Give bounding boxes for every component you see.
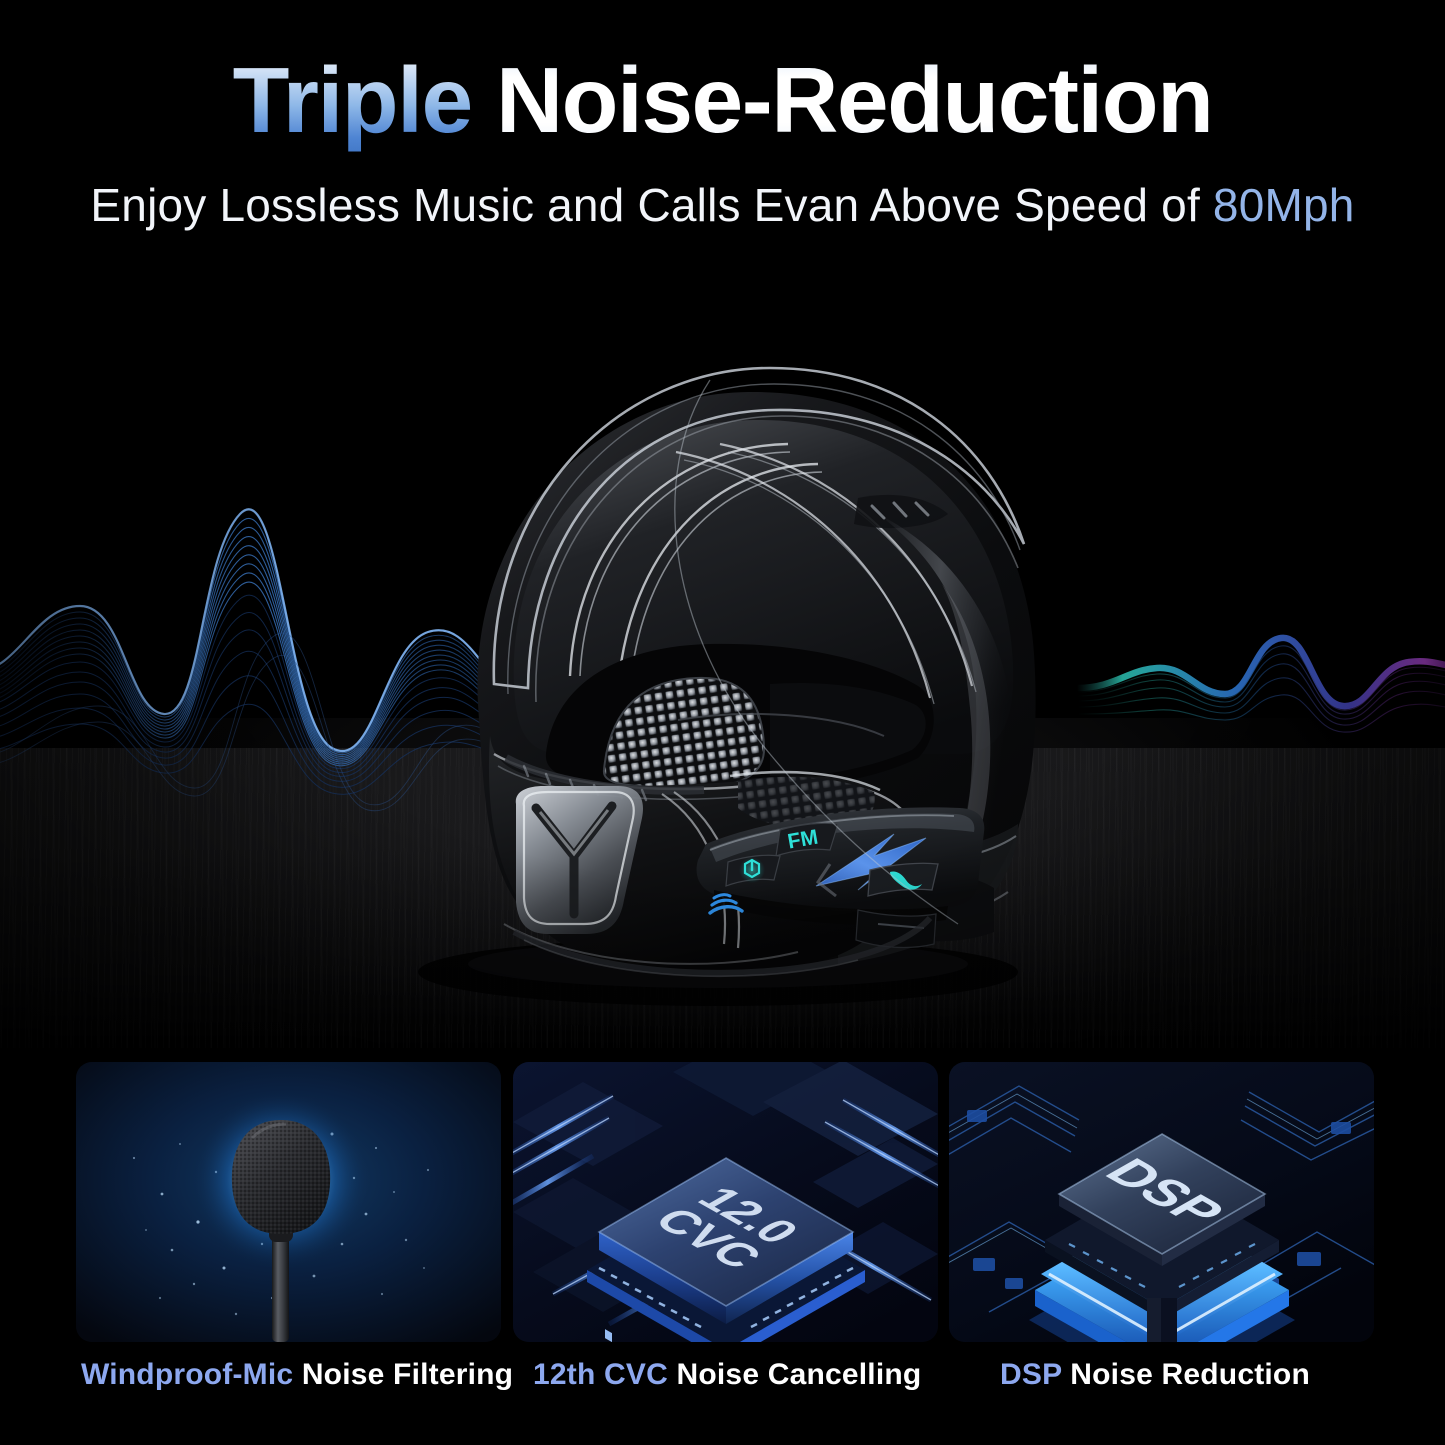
- caption-windproof-mic: Windproof-Mic Noise Filtering: [81, 1358, 513, 1392]
- caption-cvc: 12th CVC Noise Cancelling: [533, 1358, 921, 1392]
- product-feature-image: Triple Noise-Reduction Enjoy Lossless Mu…: [0, 0, 1445, 1445]
- caption-highlight-1: Windproof-Mic: [81, 1358, 293, 1391]
- feature-captions: Windproof-Mic Noise Filtering 12th CVC N…: [0, 1358, 1445, 1418]
- feature-panel-cvc-chip[interactable]: 12.0 CVC: [513, 1062, 938, 1342]
- caption-rest-1: Noise Filtering: [293, 1358, 513, 1391]
- subtitle-text: Enjoy Lossless Music and Calls Evan Abov…: [90, 179, 1213, 231]
- feature-panel-windproof-mic[interactable]: [76, 1062, 501, 1342]
- headline-space: [472, 48, 496, 152]
- subtitle-accent-speed: 80Mph: [1213, 179, 1355, 231]
- right-sound-waveform: [1075, 608, 1445, 748]
- windproof-mic-image: [76, 1062, 501, 1342]
- caption-dsp: DSP Noise Reduction: [1000, 1358, 1310, 1392]
- dsp-chip-image: DSP: [949, 1062, 1374, 1342]
- caption-highlight-3: DSP: [1000, 1358, 1062, 1391]
- feature-panels: 12.0 CVC: [0, 1062, 1445, 1347]
- caption-rest-3: Noise Reduction: [1062, 1358, 1310, 1391]
- headline-main-word: Noise-Reduction: [496, 48, 1212, 152]
- caption-rest-2: Noise Cancelling: [668, 1358, 921, 1391]
- page-subtitle: Enjoy Lossless Music and Calls Evan Abov…: [0, 178, 1445, 232]
- feature-panel-dsp-chip[interactable]: DSP: [949, 1062, 1374, 1342]
- hero-stage: FM: [0, 258, 1445, 1048]
- caption-highlight-2: 12th CVC: [533, 1358, 668, 1391]
- page-title: Triple Noise-Reduction: [0, 52, 1445, 150]
- cvc-chip-image: 12.0 CVC: [513, 1062, 938, 1342]
- motorcycle-helmet: FM: [318, 284, 1108, 1014]
- headline-accent-word: Triple: [233, 48, 472, 152]
